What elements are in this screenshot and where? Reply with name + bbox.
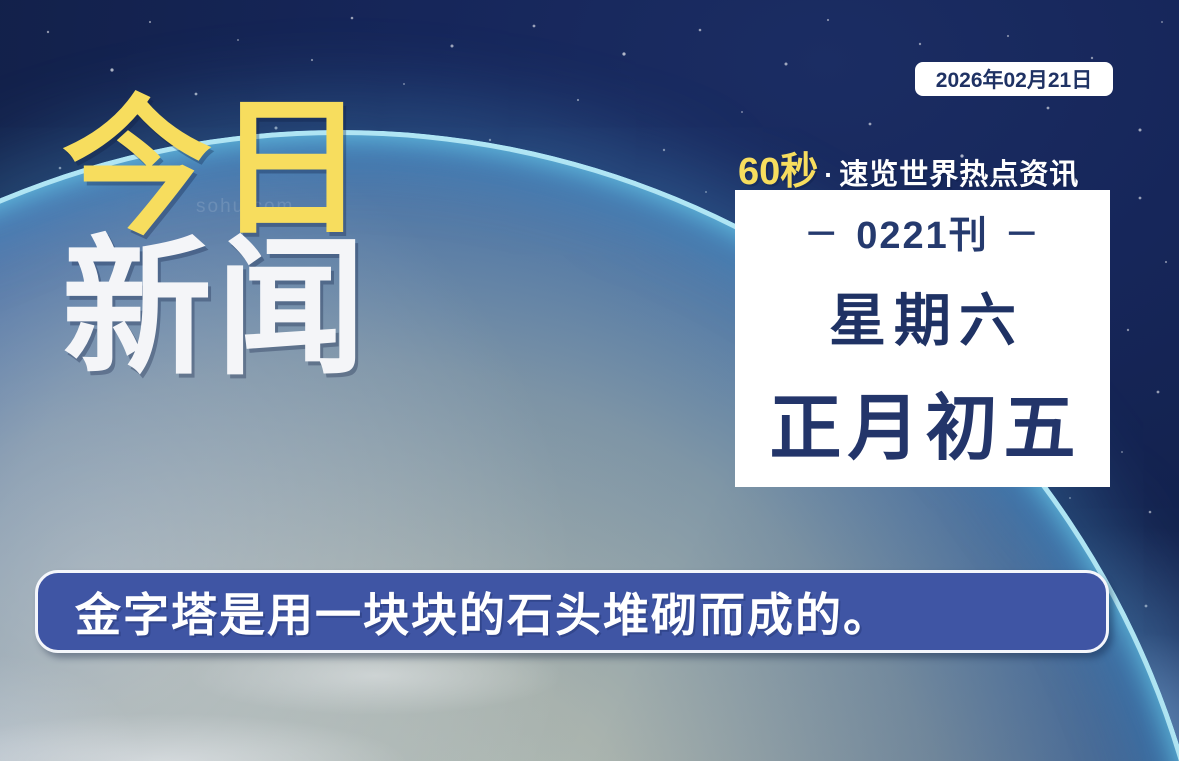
quote-text: 金字塔是用一块块的石头堆砌而成的。 <box>38 579 891 645</box>
issue-dash-left: － <box>804 207 840 256</box>
issue-line: － 0221刊 － <box>804 204 1041 259</box>
issue-info-card: － 0221刊 － 星期六 正月初五 <box>735 190 1110 487</box>
news-poster: sohu.com 今日 新闻 2026年02月21日 60秒 · 速览世界热点资… <box>0 0 1179 761</box>
weekday-label: 星期六 <box>821 275 1024 357</box>
lunar-date-label: 正月初五 <box>763 369 1081 474</box>
tagline-separator: · <box>818 160 839 191</box>
quote-banner: 金字塔是用一块块的石头堆砌而成的。 <box>35 570 1109 653</box>
issue-number: 0221刊 <box>856 204 989 259</box>
date-badge-text: 2026年02月21日 <box>936 64 1092 94</box>
date-badge: 2026年02月21日 <box>915 62 1113 96</box>
headline-bottom: 新闻 <box>62 236 370 382</box>
page-title: 今日 新闻 <box>62 96 370 381</box>
tagline-text: 速览世界热点资讯 <box>839 151 1079 193</box>
tagline: 60秒 · 速览世界热点资讯 <box>738 140 1079 195</box>
headline-top: 今日 <box>62 96 370 242</box>
issue-dash-right: － <box>1005 207 1041 256</box>
tagline-seconds: 60秒 <box>738 140 818 195</box>
